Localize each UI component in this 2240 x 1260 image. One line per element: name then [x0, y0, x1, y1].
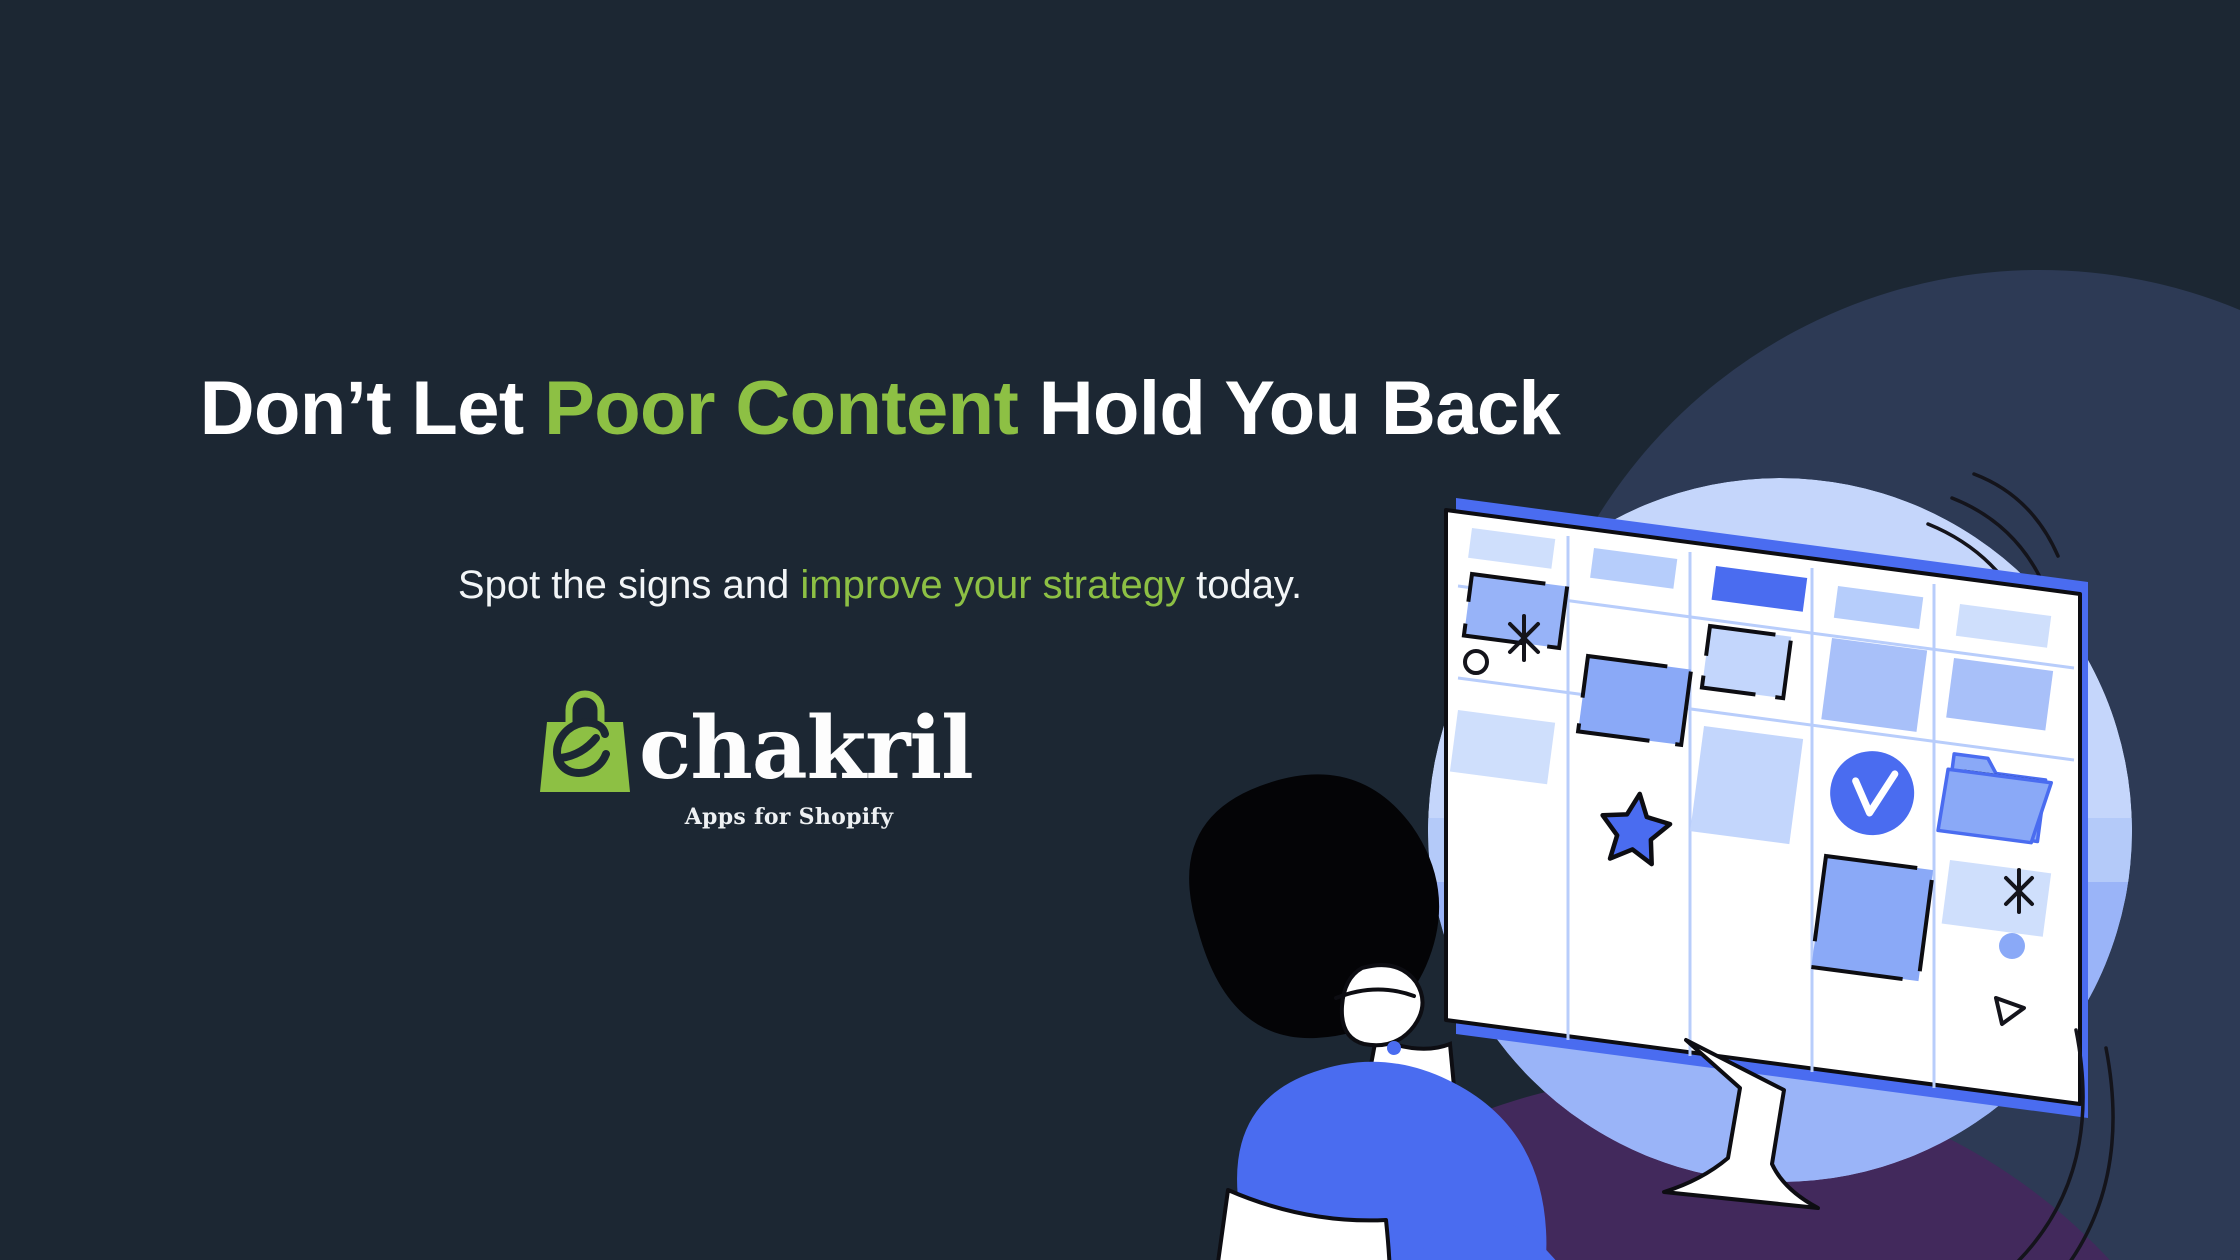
subheadline-part-2: today. [1185, 563, 1302, 607]
headline-part-2: Hold You Back [1018, 366, 1560, 451]
shopping-bag-icon [535, 688, 635, 798]
dot-decoration [1999, 933, 2025, 959]
subheadline-part-1: Spot the signs and [458, 563, 800, 607]
hero-banner: Don’t Let Poor Content Hold You Back Spo… [0, 0, 2240, 1260]
logo-wordmark: chakril [639, 706, 973, 792]
kanban-card [1578, 656, 1691, 745]
subheadline-accent: improve your strategy [800, 563, 1185, 607]
kanban-card [1464, 574, 1567, 648]
brand-logo[interactable]: chakril Apps for Shopify [535, 688, 935, 836]
headline-accent: Poor Content [544, 366, 1018, 451]
page-title: Don’t Let Poor Content Hold You Back [0, 368, 1760, 450]
hero-illustration [1428, 478, 2128, 1260]
monitor-screen [1446, 498, 2088, 1208]
earring [1387, 1041, 1401, 1055]
logo-tagline: Apps for Shopify [639, 804, 939, 830]
logo-primary-row: chakril [535, 688, 973, 798]
kanban-card [1702, 626, 1791, 698]
kanban-card [1811, 856, 1933, 981]
headline-part-1: Don’t Let [200, 366, 544, 451]
